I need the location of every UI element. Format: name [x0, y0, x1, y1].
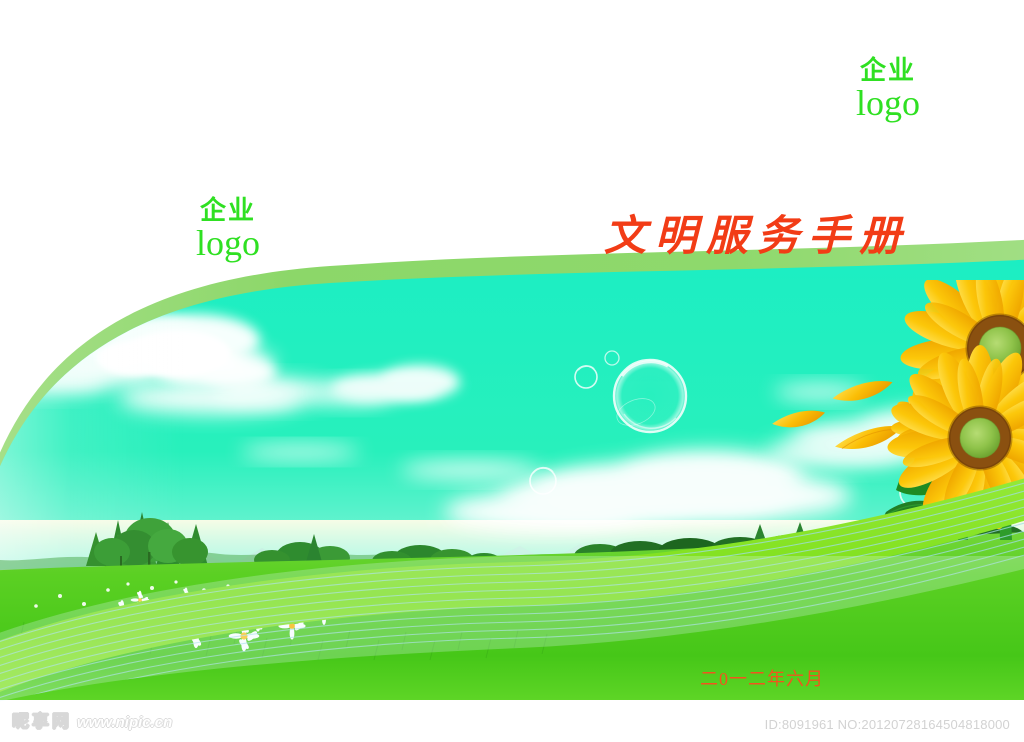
watermark-id-text: ID:8091961 NO:20120728164504818000	[765, 717, 1010, 732]
watermark-brand: 昵 享 网 www.nipic.cn	[12, 712, 172, 732]
logo-mid-left-en: logo	[196, 225, 260, 262]
watermark-bar: 昵 享 网 www.nipic.cn ID:8091961 NO:2012072…	[0, 705, 1024, 742]
logo-top-right-cn: 企业	[856, 58, 920, 85]
watermark-char-1: 昵	[12, 712, 29, 732]
logo-top-right: 企业 logo	[856, 58, 920, 121]
logo-mid-left: 企业 logo	[196, 198, 260, 261]
watermark-char-2: 享	[32, 712, 49, 732]
cover-date: 二0一二年六月	[700, 665, 824, 691]
watermark-char-3: 网	[52, 712, 69, 732]
nipic-logo-icon: 昵 享 网	[12, 712, 69, 732]
cover-title: 文明服务手册	[604, 202, 910, 263]
soap-bubble-large	[613, 360, 686, 432]
logo-mid-left-cn: 企业	[196, 198, 260, 225]
watermark-url: www.nipic.cn	[77, 714, 172, 731]
logo-top-right-en: logo	[856, 85, 920, 122]
cover-page: 企业 logo 企业 logo 文明服务手册 二0一二年六月 昵 享 网 www…	[0, 0, 1024, 742]
